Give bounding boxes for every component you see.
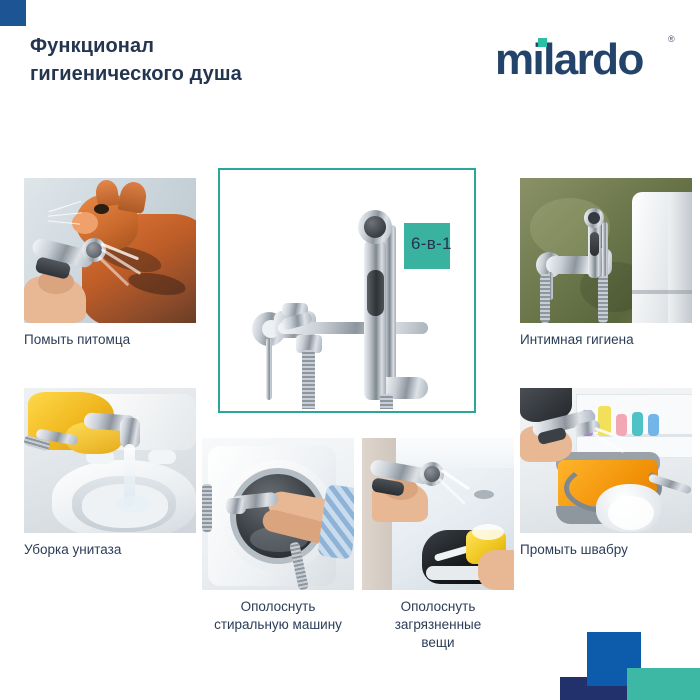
card-mop: Промыть швабру [520, 388, 692, 559]
page-title-line-1: Функционал [30, 32, 430, 60]
card-washer-image [202, 438, 354, 590]
card-clothes-image [362, 438, 514, 590]
infographic-page: Функционал гигиенического душа milardo ® [0, 0, 700, 700]
card-pet-caption: Помыть питомца [24, 331, 196, 349]
feature-badge-label: 6-в-1 [411, 234, 475, 254]
card-pet: Помыть питомца [24, 178, 196, 349]
card-mop-image [520, 388, 692, 533]
card-washer-caption-line-1: Ополоснуть [202, 598, 354, 616]
card-hygiene: Интимная гигиена [520, 178, 692, 349]
brand-logo-text: milardo [495, 30, 643, 90]
card-toilet-caption: Уборка унитаза [24, 541, 196, 559]
card-toilet: Уборка унитаза [24, 388, 196, 559]
brand-logo-dot-icon [538, 38, 547, 47]
feature-product-image [222, 172, 472, 409]
card-clothes-caption: Ополоснуть загрязненные вещи [362, 598, 514, 653]
card-pet-image [24, 178, 196, 323]
feature-product-frame [218, 168, 476, 413]
card-washer-caption-line-2: стиральную машину [202, 616, 354, 634]
card-mop-caption: Промыть швабру [520, 541, 692, 559]
brand-logo: milardo ® [495, 30, 675, 90]
card-washer: Ополоснуть стиральную машину [202, 438, 354, 634]
registered-trademark-icon: ® [668, 34, 675, 44]
card-clothes-caption-line-2: загрязненные [362, 616, 514, 634]
card-clothes-caption-line-3: вещи [362, 634, 514, 652]
page-title-line-2: гигиенического душа [30, 60, 430, 88]
card-washer-caption: Ополоснуть стиральную машину [202, 598, 354, 634]
card-toilet-image [24, 388, 196, 533]
corner-accent-top-left [0, 0, 26, 26]
card-clothes-caption-line-1: Ополоснуть [362, 598, 514, 616]
card-hygiene-image [520, 178, 692, 323]
card-clothes: Ополоснуть загрязненные вещи [362, 438, 514, 653]
page-title: Функционал гигиенического душа [30, 32, 430, 88]
card-hygiene-caption: Интимная гигиена [520, 331, 692, 349]
corner-accent-teal-bottom-right [627, 668, 700, 700]
